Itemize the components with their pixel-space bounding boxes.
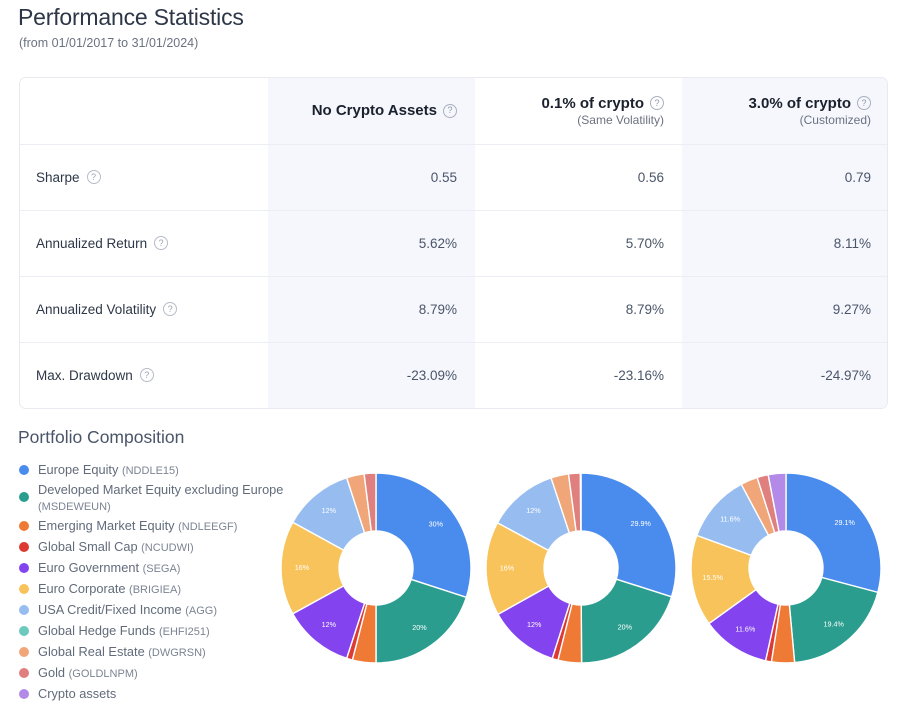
row-label-text: Sharpe bbox=[36, 170, 80, 185]
help-circle-icon[interactable]: ? bbox=[163, 302, 177, 316]
help-circle-icon[interactable]: ? bbox=[140, 368, 154, 382]
cell-annualized-return-point-one: 5.70% bbox=[475, 210, 682, 276]
donut-slice[interactable] bbox=[376, 473, 471, 597]
donut-slice-label: 12% bbox=[526, 506, 541, 515]
table-row: Annualized Return ? 5.62% 5.70% 8.11% bbox=[20, 210, 888, 276]
donut-slice-label: 30% bbox=[429, 519, 444, 528]
row-label-max-drawdown: Max. Drawdown ? bbox=[20, 342, 268, 408]
table-row: Sharpe ? 0.55 0.56 0.79 bbox=[20, 144, 888, 210]
table-row: Annualized Volatility ? 8.79% 8.79% 9.27… bbox=[20, 276, 888, 342]
donut-slice-label: 16% bbox=[500, 563, 515, 572]
row-label-annualized-return: Annualized Return ? bbox=[20, 210, 268, 276]
legend-color-dot-icon bbox=[19, 689, 29, 699]
cell-sharpe-point-one: 0.56 bbox=[475, 144, 682, 210]
cell-annualized-volatility-point-one: 8.79% bbox=[475, 276, 682, 342]
donut-slice[interactable] bbox=[580, 473, 581, 531]
row-label-text: Max. Drawdown bbox=[36, 368, 133, 383]
table-header-point-one-crypto-label: 0.1% of crypto bbox=[541, 95, 644, 112]
table-header-point-one-crypto-sublabel: (Same Volatility) bbox=[475, 113, 664, 127]
help-circle-icon[interactable]: ? bbox=[87, 170, 101, 184]
help-circle-icon[interactable]: ? bbox=[650, 96, 664, 110]
donut-slice[interactable] bbox=[581, 579, 671, 663]
donut-slice-label: 12% bbox=[322, 620, 337, 629]
donut-slice-label: 15.5% bbox=[702, 573, 723, 582]
donut-slice[interactable] bbox=[581, 473, 676, 597]
table-header-three-crypto: 3.0% of crypto ? (Customized) bbox=[682, 78, 888, 144]
donut-slice[interactable] bbox=[786, 473, 881, 592]
donut-slice-label: 29.1% bbox=[834, 518, 855, 527]
page-date-range: (from 01/01/2017 to 31/01/2024) bbox=[19, 36, 198, 50]
donut-slice-label: 29.9% bbox=[631, 519, 652, 528]
help-circle-icon[interactable]: ? bbox=[857, 96, 871, 110]
table-header-row: No Crypto Assets ? 0.1% of crypto ? (Sam… bbox=[20, 78, 888, 144]
row-label-annualized-volatility: Annualized Volatility ? bbox=[20, 276, 268, 342]
donut-chart[interactable]: 29.1%19.4%11.6%15.5%11.6% bbox=[688, 470, 884, 666]
cell-annualized-return-three: 8.11% bbox=[682, 210, 888, 276]
cell-sharpe-no-crypto: 0.55 bbox=[268, 144, 475, 210]
donut-charts-group: 30%20%12%16%12%29.9%20%12%16%12%29.1%19.… bbox=[0, 470, 911, 670]
cell-max-drawdown-no-crypto: -23.09% bbox=[268, 342, 475, 408]
help-circle-icon[interactable]: ? bbox=[443, 104, 457, 118]
table-header-no-crypto-label: No Crypto Assets bbox=[312, 102, 437, 119]
donut-slice-label: 12% bbox=[527, 620, 542, 629]
table-header-no-crypto: No Crypto Assets ? bbox=[268, 78, 475, 144]
cell-annualized-volatility-three: 9.27% bbox=[682, 276, 888, 342]
page-title: Performance Statistics bbox=[18, 4, 244, 31]
donut-slice-label: 16% bbox=[295, 563, 310, 572]
cell-annualized-volatility-no-crypto: 8.79% bbox=[268, 276, 475, 342]
table-header-blank bbox=[20, 78, 268, 144]
donut-chart[interactable]: 30%20%12%16%12% bbox=[278, 470, 474, 666]
donut-slice-label: 20% bbox=[618, 622, 633, 631]
cell-sharpe-three: 0.79 bbox=[682, 144, 888, 210]
table-header-three-crypto-sublabel: (Customized) bbox=[682, 113, 871, 127]
help-circle-icon[interactable]: ? bbox=[154, 236, 168, 250]
row-label-text: Annualized Volatility bbox=[36, 302, 156, 317]
donut-slice-label: 19.4% bbox=[824, 619, 845, 628]
performance-statistics-table: No Crypto Assets ? 0.1% of crypto ? (Sam… bbox=[19, 77, 888, 409]
legend-item[interactable]: Crypto assets bbox=[19, 685, 294, 703]
donut-slice-label: 11.6% bbox=[720, 514, 740, 523]
legend-item-label: Crypto assets bbox=[38, 685, 116, 703]
table-row: Max. Drawdown ? -23.09% -23.16% -24.97% bbox=[20, 342, 888, 408]
donut-slice-label: 11.6% bbox=[735, 625, 755, 634]
table-header-three-crypto-label: 3.0% of crypto bbox=[748, 95, 851, 112]
table-header-point-one-crypto: 0.1% of crypto ? (Same Volatility) bbox=[475, 78, 682, 144]
donut-slice-label: 12% bbox=[322, 506, 337, 515]
cell-max-drawdown-point-one: -23.16% bbox=[475, 342, 682, 408]
performance-statistics-page: Performance Statistics (from 01/01/2017 … bbox=[0, 0, 911, 724]
cell-annualized-return-no-crypto: 5.62% bbox=[268, 210, 475, 276]
row-label-sharpe: Sharpe ? bbox=[20, 144, 268, 210]
cell-max-drawdown-three: -24.97% bbox=[682, 342, 888, 408]
row-label-text: Annualized Return bbox=[36, 236, 147, 251]
donut-slice-label: 20% bbox=[412, 623, 427, 632]
portfolio-composition-title: Portfolio Composition bbox=[18, 427, 184, 448]
donut-chart[interactable]: 29.9%20%12%16%12% bbox=[483, 470, 679, 666]
